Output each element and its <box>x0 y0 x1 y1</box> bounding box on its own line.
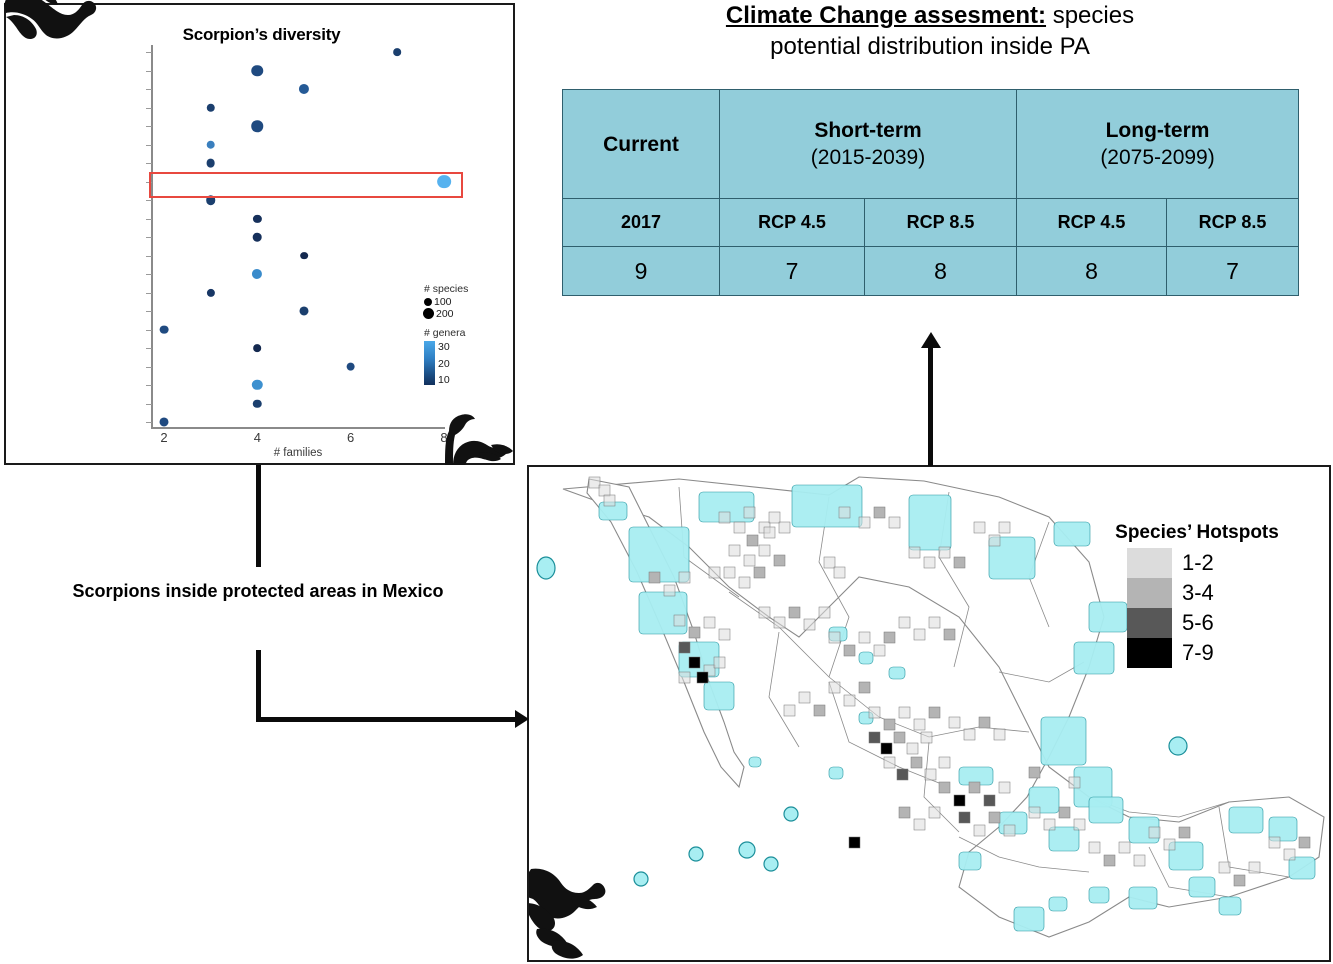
map-hotspot-cell-3 <box>719 512 730 523</box>
map-hotspot-cell-14 <box>724 567 735 578</box>
map-hotspot-cell-77 <box>814 705 825 716</box>
map-hotspot-cell-2 <box>604 495 615 506</box>
map-legend-body: 1-23-45-67-9 <box>1077 548 1317 668</box>
map-hotspot-cell-0 <box>589 477 600 488</box>
scatter-point-greece <box>207 288 215 296</box>
map-island-6 <box>1169 737 1187 755</box>
table-header-current: Current <box>563 90 720 199</box>
map-hotspot-cell-109 <box>1029 767 1040 778</box>
map-hotspot-cell-23 <box>679 642 690 653</box>
map-hotspot-cell-76 <box>799 692 810 703</box>
map-protected-area-34 <box>1014 907 1044 931</box>
map-protected-area-14 <box>1041 717 1086 765</box>
connector-arrowhead-to-map <box>515 710 529 728</box>
map-hotspot-cell-52 <box>989 535 1000 546</box>
table-subheader-2017: 2017 <box>563 199 720 247</box>
map-hotspot-cell-48 <box>924 557 935 568</box>
scorpion-silhouette-map-bottomleft <box>527 867 623 962</box>
map-hotspot-cell-21 <box>704 617 715 628</box>
map-hotspot-cell-40 <box>914 629 925 640</box>
map-hotspot-cell-67 <box>925 769 936 780</box>
map-hotspot-cell-41 <box>929 617 940 628</box>
map-hotspot-cell-95 <box>1089 842 1100 853</box>
map-hotspot-cell-63 <box>921 732 932 743</box>
scatter-point-tanzania <box>206 103 214 111</box>
map-hotspot-cell-110 <box>1069 777 1080 788</box>
map-hotspot-cell-27 <box>679 672 690 683</box>
map-hotspot-cell-69 <box>949 717 960 728</box>
map-hotspot-cell-85 <box>974 825 985 836</box>
map-hotspot-cell-30 <box>774 617 785 628</box>
map-hotspot-cell-55 <box>884 719 895 730</box>
map-hotspot-cell-28 <box>714 657 725 668</box>
y-tick <box>146 237 152 238</box>
y-tick <box>146 385 152 386</box>
map-hotspot-cell-75 <box>859 682 870 693</box>
map-protected-area-7 <box>909 495 951 550</box>
table-title: Climate Change assesment: species potent… <box>560 0 1300 62</box>
map-hotspot-cell-39 <box>899 617 910 628</box>
x-axis-title: # families <box>152 447 444 459</box>
legend-genera-title: # genera <box>424 327 514 339</box>
map-protected-area-13 <box>859 652 873 664</box>
scatter-point-indonesia <box>300 252 308 260</box>
table-subheader-st-rcp85: RCP 8.5 <box>865 199 1017 247</box>
legend-species-item-200: 200 <box>424 307 514 320</box>
table-value-lt-rcp85: 7 <box>1167 247 1299 296</box>
scatter-point-vietnam <box>394 48 402 56</box>
table-title-line2: potential distribution inside PA <box>770 33 1090 60</box>
scorpion-diversity-chart-panel: Scorpion’s diversity VietnamVenezuelaUST… <box>4 3 515 465</box>
map-island-4 <box>634 872 648 886</box>
scatter-point-india <box>252 269 262 279</box>
map-protected-area-36 <box>749 757 761 767</box>
legend-species-item-100: 100 <box>424 296 514 307</box>
table-header-short-term-main: Short-term <box>720 117 1016 144</box>
map-island-2 <box>739 842 755 858</box>
map-legend-swatches <box>1127 548 1172 668</box>
map-hotspot-cell-97 <box>1119 842 1130 853</box>
scatter-point-southern-africa <box>252 120 264 132</box>
map-hotspot-cell-60 <box>881 743 892 754</box>
map-protected-area-21 <box>959 852 981 870</box>
legend-species-label-200: 200 <box>436 308 454 320</box>
mexico-highlight-box <box>149 172 463 198</box>
x-tick-6: 6 <box>347 430 354 445</box>
map-hotspot-cell-68 <box>939 757 950 768</box>
legend-dot-large <box>423 308 434 319</box>
y-tick <box>146 367 152 368</box>
map-island-3 <box>764 857 778 871</box>
map-legend-label-7-9: 7-9 <box>1182 638 1214 668</box>
y-tick <box>146 274 152 275</box>
map-hotspot-cell-112 <box>747 535 758 546</box>
connector-vertical-from-chart <box>256 465 261 567</box>
map-hotspot-cell-16 <box>754 567 765 578</box>
map-hotspot-cell-26 <box>697 672 708 683</box>
map-hotspot-cell-24 <box>689 657 700 668</box>
table-value-2017: 9 <box>563 247 720 296</box>
chart-title: Scorpion’s diversity <box>6 25 517 45</box>
map-protected-area-31 <box>1129 887 1157 909</box>
map-hotspot-cell-94 <box>1074 819 1085 830</box>
y-tick <box>146 219 152 220</box>
scatter-point-costa-rica <box>254 344 262 352</box>
map-hotspot-cell-20 <box>689 627 700 638</box>
map-hotspot-cell-36 <box>859 632 870 643</box>
map-hotspot-cell-57 <box>914 719 925 730</box>
y-tick <box>146 89 152 90</box>
table-subheader-lt-rcp45: RCP 4.5 <box>1017 199 1167 247</box>
map-hotspot-cell-80 <box>954 795 965 806</box>
map-hotspot-cell-59 <box>869 732 880 743</box>
map-hotspot-cell-62 <box>907 743 918 754</box>
scatter-point-us <box>299 84 309 94</box>
map-legend-label-1-2: 1-2 <box>1182 548 1214 578</box>
y-tick <box>146 256 152 257</box>
map-hotspot-cell-101 <box>1179 827 1190 838</box>
map-legend: Species’ Hotspots 1-23-45-67-9 <box>1077 522 1317 668</box>
map-protected-area-27 <box>1229 807 1263 833</box>
y-tick <box>146 422 152 423</box>
map-protected-area-33 <box>1049 897 1067 911</box>
chart-legend: # species 100 200 # genera 30 20 10 <box>424 283 514 390</box>
map-hotspot-cell-113 <box>679 572 690 583</box>
map-hotspot-cell-46 <box>889 517 900 528</box>
map-hotspot-cell-53 <box>999 522 1010 533</box>
map-hotspot-cell-106 <box>1284 849 1295 860</box>
table-header-long-term-sub: (2075-2099) <box>1017 144 1298 171</box>
map-hotspot-cell-31 <box>789 607 800 618</box>
scatter-point-venezuela <box>252 65 264 77</box>
scorpion-silhouette-bottomright <box>431 413 517 467</box>
map-hotspot-cell-70 <box>964 729 975 740</box>
table-value-row: 9 7 8 8 7 <box>563 247 1299 296</box>
map-protected-area-35 <box>829 767 843 779</box>
map-hotspot-cell-32 <box>804 619 815 630</box>
x-tick-4: 4 <box>254 430 261 445</box>
map-protected-area-32 <box>1089 887 1109 903</box>
y-tick <box>146 108 152 109</box>
y-tick <box>146 163 152 164</box>
map-hotspot-cell-50 <box>954 557 965 568</box>
legend-dot-small <box>424 298 432 306</box>
table-header-row-sub: 2017 RCP 4.5 RCP 8.5 RCP 4.5 RCP 8.5 <box>563 199 1299 247</box>
map-hotspot-cell-8 <box>779 522 790 533</box>
map-hotspot-cell-10 <box>744 555 755 566</box>
map-hotspot-cell-33 <box>819 607 830 618</box>
connector-vertical-map-to-table <box>928 347 933 466</box>
legend-genera-ticks: 30 20 10 <box>438 341 450 390</box>
table-header-row-top: Current Short-term (2015-2039) Long-term… <box>563 90 1299 199</box>
map-hotspot-cell-84 <box>959 812 970 823</box>
map-hotspot-cell-104 <box>1249 862 1260 873</box>
map-hotspot-cell-107 <box>1299 837 1310 848</box>
y-tick <box>146 404 152 405</box>
legend-genera-colorbar <box>424 341 435 385</box>
legend-genera-colorbar-wrap: 30 20 10 <box>424 341 514 390</box>
map-protected-area-2 <box>639 592 687 634</box>
map-hotspot-cell-1 <box>599 485 610 496</box>
map-hotspot-cell-92 <box>1044 819 1055 830</box>
legend-genera-tick-20: 20 <box>438 359 450 370</box>
map-hotspot-cell-43 <box>839 507 850 518</box>
map-hotspot-cell-98 <box>1134 855 1145 866</box>
map-legend-label-5-6: 5-6 <box>1182 608 1214 638</box>
map-hotspot-cell-58 <box>929 707 940 718</box>
map-island-5 <box>784 807 798 821</box>
mexico-hotspot-map-panel: Species’ Hotspots 1-23-45-67-9 <box>527 465 1331 962</box>
map-protected-area-19 <box>1049 827 1079 851</box>
table-header-current-main: Current <box>563 131 719 158</box>
map-hotspot-cell-19 <box>674 615 685 626</box>
map-island-1 <box>689 847 703 861</box>
map-legend-swatch-7-9 <box>1127 638 1172 668</box>
map-hotspot-cell-18 <box>834 567 845 578</box>
map-legend-swatch-1-2 <box>1127 548 1172 578</box>
scatter-point-ecuador <box>299 306 308 315</box>
map-hotspot-cell-7 <box>769 512 780 523</box>
map-hotspot-cell-66 <box>911 757 922 768</box>
x-axis-line <box>151 427 445 429</box>
table-title-bold: Climate Change assesment: <box>726 2 1046 29</box>
map-state-boundary-5 <box>769 632 799 747</box>
map-hotspot-cell-64 <box>884 757 895 768</box>
map-hotspot-cell-79 <box>939 782 950 793</box>
y-tick <box>146 126 152 127</box>
map-hotspot-cell-11 <box>759 545 770 556</box>
map-hotspot-cell-115 <box>649 572 660 583</box>
map-hotspot-cell-47 <box>909 547 920 558</box>
table-value-st-rcp45: 7 <box>720 247 865 296</box>
map-hotspot-cell-103 <box>1234 875 1245 886</box>
map-protected-area-4 <box>704 682 734 710</box>
map-island-0 <box>537 557 555 579</box>
table-header-short-term-sub: (2015-2039) <box>720 144 1016 171</box>
map-legend-swatch-5-6 <box>1127 608 1172 638</box>
y-tick <box>146 200 152 201</box>
map-legend-labels: 1-23-45-67-9 <box>1182 548 1214 668</box>
table-value-lt-rcp45: 8 <box>1017 247 1167 296</box>
legend-species-label-100: 100 <box>434 296 452 308</box>
table-header-short-term: Short-term (2015-2039) <box>720 90 1017 199</box>
map-hotspot-cell-87 <box>1004 825 1015 836</box>
map-hotspot-cell-88 <box>929 807 940 818</box>
scatter-point-australia <box>253 399 261 407</box>
map-hotspot-cell-108 <box>849 837 860 848</box>
map-hotspot-cell-83 <box>999 782 1010 793</box>
table-subheader-st-rcp45: RCP 4.5 <box>720 199 865 247</box>
map-hotspot-cell-54 <box>869 707 880 718</box>
table-value-st-rcp85: 8 <box>865 247 1017 296</box>
map-hotspot-cell-114 <box>664 585 675 596</box>
map-hotspot-cell-15 <box>739 577 750 588</box>
map-hotspot-cell-34 <box>829 632 840 643</box>
map-hotspot-cell-56 <box>899 707 910 718</box>
map-hotspot-cell-61 <box>894 732 905 743</box>
map-protected-area-20 <box>1089 797 1123 823</box>
legend-genera-tick-10: 10 <box>438 375 450 386</box>
map-hotspot-cell-105 <box>1269 837 1280 848</box>
y-tick <box>146 145 152 146</box>
map-hotspot-cell-13 <box>709 567 720 578</box>
map-hotspot-cell-82 <box>984 795 995 806</box>
map-hotspot-cell-37 <box>874 645 885 656</box>
table-title-rest: species <box>1046 2 1134 29</box>
scatter-point-somalia <box>206 140 215 149</box>
map-hotspot-cell-35 <box>844 645 855 656</box>
map-hotspot-cell-29 <box>759 607 770 618</box>
map-hotspot-cell-100 <box>1164 839 1175 850</box>
map-hotspot-cell-90 <box>899 807 910 818</box>
map-protected-area-26 <box>1189 877 1215 897</box>
scatter-point-china <box>346 362 355 371</box>
connector-horizontal-to-map <box>256 717 519 722</box>
legend-species-title: # species <box>424 283 514 295</box>
map-protected-area-6 <box>792 485 862 527</box>
climate-change-table: Current Short-term (2015-2039) Long-term… <box>562 89 1299 296</box>
map-hotspot-cell-9 <box>729 545 740 556</box>
map-legend-label-3-4: 3-4 <box>1182 578 1214 608</box>
map-legend-title: Species’ Hotspots <box>1077 522 1317 544</box>
map-hotspot-cell-78 <box>784 705 795 716</box>
map-legend-swatch-3-4 <box>1127 578 1172 608</box>
map-hotspot-cell-12 <box>774 555 785 566</box>
map-hotspot-cell-17 <box>824 557 835 568</box>
map-hotspot-cell-5 <box>744 507 755 518</box>
legend-genera-tick-30: 30 <box>438 342 450 353</box>
map-hotspot-cell-49 <box>939 547 950 558</box>
map-hotspot-cell-91 <box>1029 807 1040 818</box>
map-hotspot-cell-93 <box>1059 807 1070 818</box>
y-tick <box>146 348 152 349</box>
y-tick <box>146 52 152 53</box>
map-hotspot-cell-111 <box>764 527 775 538</box>
map-hotspot-cell-74 <box>844 695 855 706</box>
y-tick <box>146 330 152 331</box>
scatter-point-argentina <box>159 417 168 426</box>
connector-vertical-to-map <box>256 650 261 722</box>
scatter-point-morocco <box>206 159 215 168</box>
flow-caption: Scorpions inside protected areas in Mexi… <box>28 578 488 604</box>
map-hotspot-cell-38 <box>884 632 895 643</box>
map-hotspot-cell-89 <box>914 819 925 830</box>
scatter-point-israel <box>253 214 261 222</box>
map-hotspot-cell-45 <box>874 507 885 518</box>
table-header-long-term-main: Long-term <box>1017 117 1298 144</box>
map-protected-area-29 <box>1289 857 1315 879</box>
scatter-point-cuba <box>160 325 169 334</box>
connector-arrowhead-to-table <box>921 332 941 348</box>
map-protected-area-30 <box>1219 897 1241 915</box>
map-hotspot-cell-72 <box>994 729 1005 740</box>
map-hotspot-cell-81 <box>969 782 980 793</box>
table-header-long-term: Long-term (2075-2099) <box>1017 90 1299 199</box>
y-tick <box>146 311 152 312</box>
map-hotspot-cell-51 <box>974 522 985 533</box>
map-protected-area-22 <box>889 667 905 679</box>
map-hotspot-cell-102 <box>1219 862 1230 873</box>
y-tick <box>146 293 152 294</box>
map-hotspot-cell-44 <box>859 517 870 528</box>
table-subheader-lt-rcp85: RCP 8.5 <box>1167 199 1299 247</box>
map-hotspot-cell-65 <box>897 769 908 780</box>
map-hotspot-cell-4 <box>734 522 745 533</box>
scatter-point-brazil <box>252 380 262 390</box>
map-hotspot-cell-86 <box>989 812 1000 823</box>
x-tick-2: 2 <box>160 430 167 445</box>
y-tick <box>146 71 152 72</box>
map-hotspot-cell-96 <box>1104 855 1115 866</box>
map-hotspot-cell-99 <box>1149 827 1160 838</box>
map-hotspot-cell-42 <box>944 629 955 640</box>
scatter-point-iran <box>253 233 262 242</box>
map-hotspot-cell-22 <box>719 629 730 640</box>
map-hotspot-cell-71 <box>979 717 990 728</box>
map-hotspot-cell-73 <box>829 682 840 693</box>
